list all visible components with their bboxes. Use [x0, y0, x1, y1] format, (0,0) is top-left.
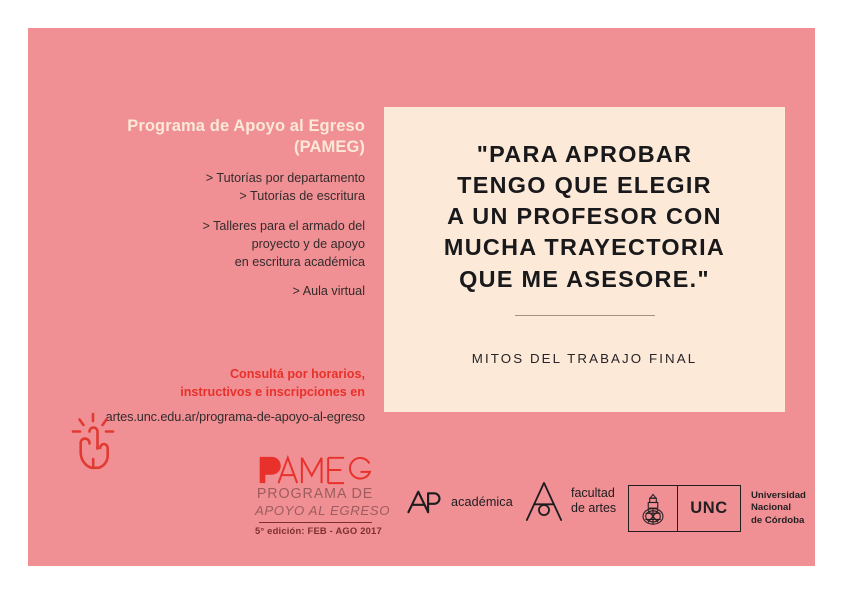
list-item: en escritura académica — [35, 254, 365, 272]
unc-logo: UNC Universidad Nacional de Córdoba — [628, 485, 806, 532]
facultad-label-line-2: de artes — [571, 501, 616, 515]
unc-full-name: Universidad Nacional de Córdoba — [751, 490, 806, 528]
consulta-callout: Consultá por horarios, instructivos e in… — [35, 366, 365, 401]
pameg-wordmark — [255, 455, 375, 485]
list-item: > Tutorías de escritura — [35, 188, 365, 206]
quote-divider — [515, 315, 655, 316]
pameg-edition: 5° edición: FEB - AGO 2017 — [255, 525, 375, 536]
list-item: > Talleres para el armado del — [35, 218, 365, 236]
list-item: proyecto y de apoyo — [35, 236, 365, 254]
pameg-rule — [259, 522, 372, 523]
consulta-line-1: Consultá por horarios, — [35, 366, 365, 384]
poster-canvas: Programa de Apoyo al Egreso (PAMEG) > Tu… — [0, 0, 842, 595]
facultad-label: facultad de artes — [571, 486, 616, 517]
pameg-logo: PROGRAMA DE APOYO AL EGRESO 5° edición: … — [255, 455, 375, 536]
facultad-label-line-1: facultad — [571, 486, 615, 500]
academica-monogram-icon — [406, 488, 442, 515]
services-group-tutorias: > Tutorías por departamento > Tutorías d… — [35, 170, 365, 206]
unc-crest-icon — [629, 486, 678, 531]
services-group-aula: > Aula virtual — [35, 283, 365, 301]
academica-label: académica — [451, 495, 513, 509]
services-group-talleres: > Talleres para el armado del proyecto y… — [35, 218, 365, 272]
program-title-line-1: Programa de Apoyo al Egreso — [35, 116, 365, 137]
quote-line: "PARA APROBAR — [384, 139, 785, 170]
unc-name-line-3: de Córdoba — [751, 515, 806, 528]
logo-strip: PROGRAMA DE APOYO AL EGRESO 5° edición: … — [28, 452, 815, 552]
pameg-wordmark-icon — [255, 455, 375, 485]
consulta-line-2: instructivos e inscripciones en — [35, 384, 365, 402]
unc-acronym: UNC — [678, 486, 740, 531]
unc-name-line-1: Universidad — [751, 490, 806, 503]
list-item: > Tutorías por departamento — [35, 170, 365, 188]
facultad-de-artes-mark-icon — [524, 480, 564, 522]
services-list: > Tutorías por departamento > Tutorías d… — [35, 170, 365, 301]
program-title-line-2: (PAMEG) — [35, 137, 365, 158]
pameg-subtitle-1: PROGRAMA DE — [255, 486, 375, 502]
list-item: > Aula virtual — [35, 283, 365, 301]
pameg-subtitle-2: APOYO AL EGRESO — [255, 503, 375, 518]
academica-logo: académica — [406, 488, 513, 515]
quote-line: MUCHA TRAYECTORIA — [384, 232, 785, 263]
quote-line: QUE ME ASESORE." — [384, 264, 785, 295]
facultad-de-artes-logo: facultad de artes — [524, 480, 616, 522]
unc-name-line-2: Nacional — [751, 502, 806, 515]
quote-line: TENGO QUE ELEGIR — [384, 170, 785, 201]
quote-text: "PARA APROBAR TENGO QUE ELEGIR A UN PROF… — [384, 139, 785, 295]
quote-caption: MITOS DEL TRABAJO FINAL — [384, 351, 785, 366]
program-title: Programa de Apoyo al Egreso (PAMEG) — [35, 116, 365, 158]
quote-panel: "PARA APROBAR TENGO QUE ELEGIR A UN PROF… — [384, 107, 785, 412]
quote-line: A UN PROFESOR CON — [384, 201, 785, 232]
unc-logo-box: UNC — [628, 485, 741, 532]
